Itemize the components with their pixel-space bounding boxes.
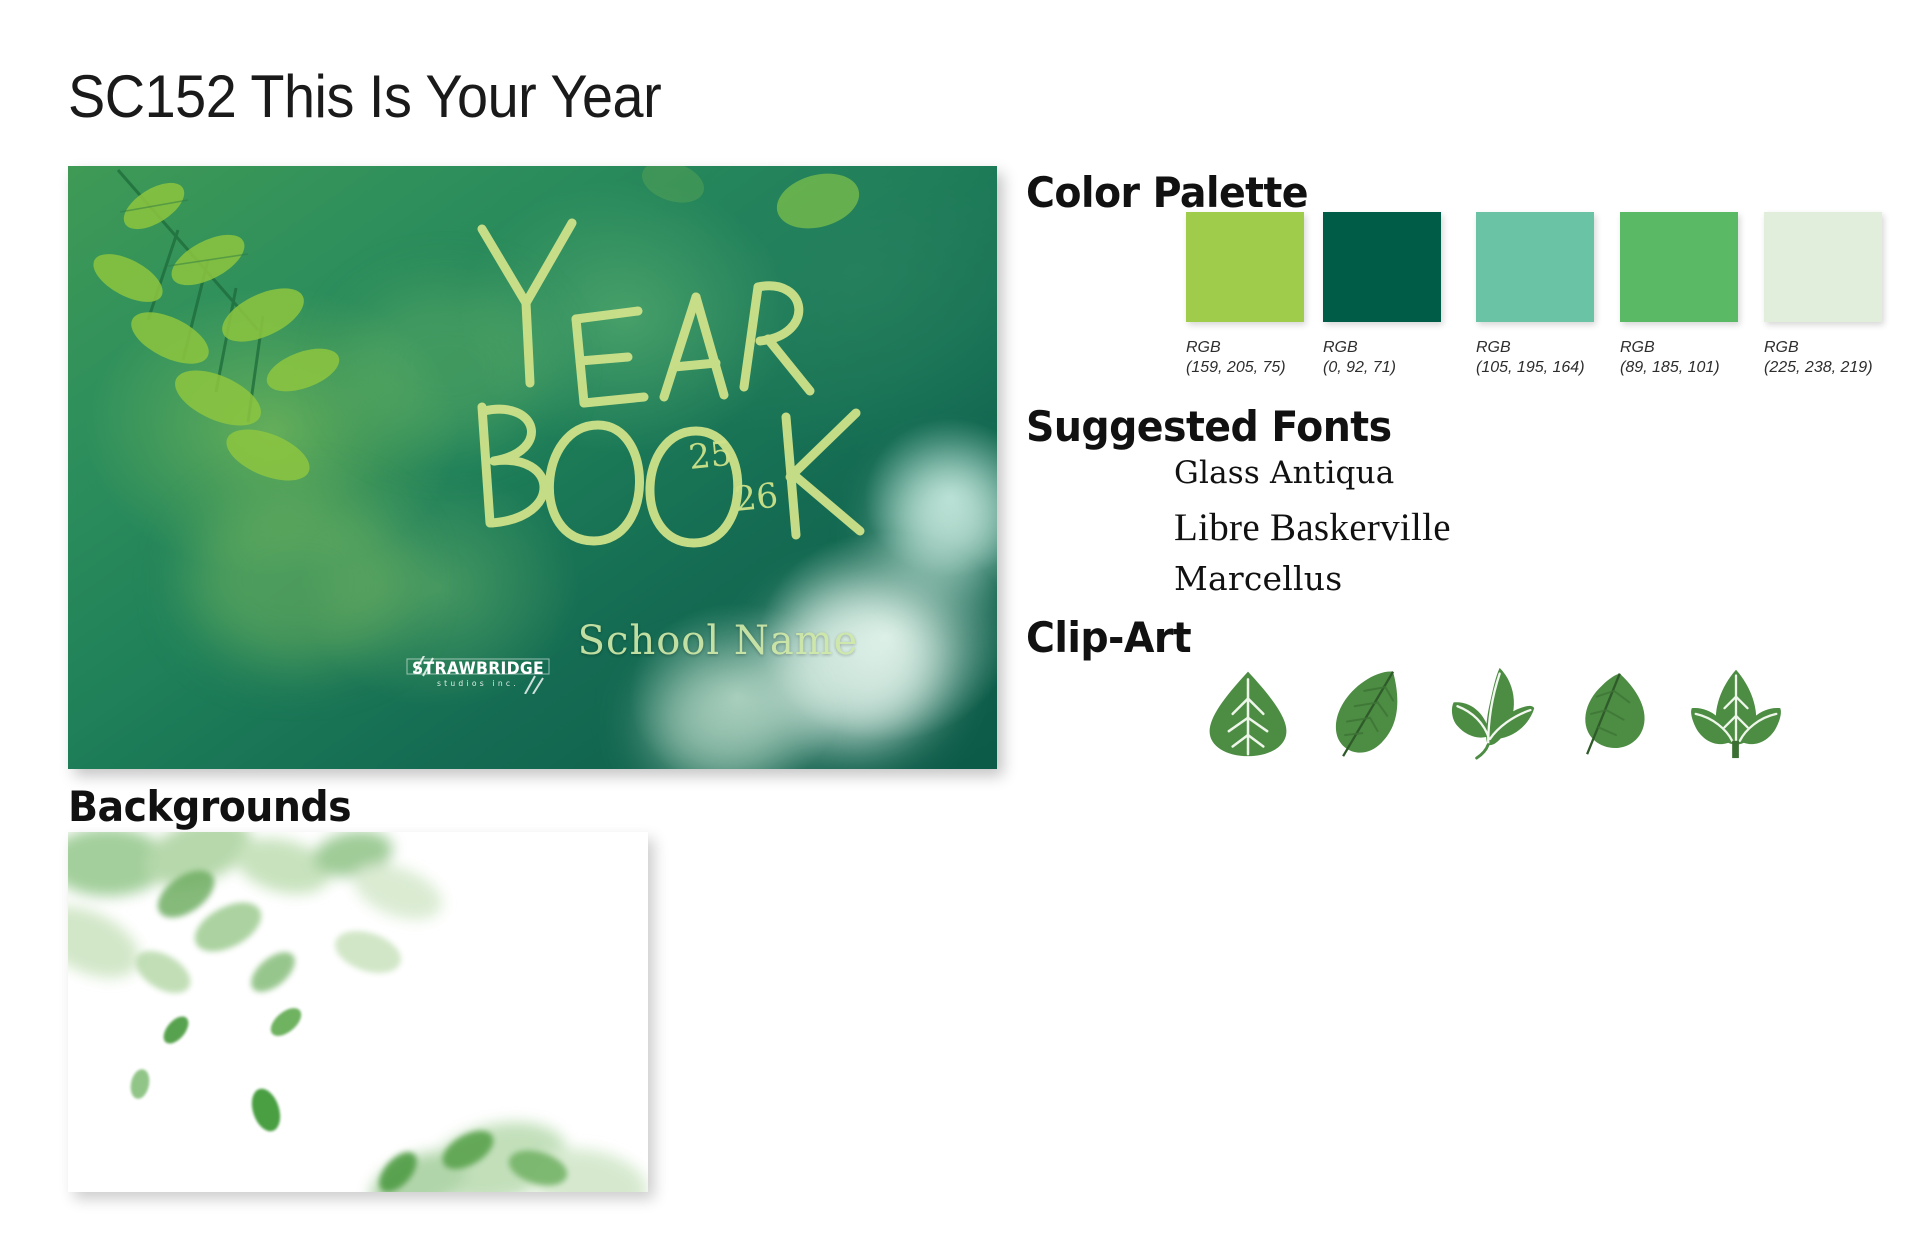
swatch-item[interactable]: RGB (89, 185, 101) xyxy=(1620,212,1738,379)
rgb-title: RGB xyxy=(1620,339,1655,356)
suggested-fonts-list: Glass Antiqua Libre Baskerville Marcellu… xyxy=(1174,455,1451,598)
background-preview[interactable] xyxy=(68,832,648,1192)
leaf-teardrop-icon[interactable] xyxy=(1200,664,1296,760)
font-sample-marcellus: Marcellus xyxy=(1174,559,1451,598)
swatch-item[interactable]: RGB (225, 238, 219) xyxy=(1764,212,1882,379)
rgb-value: (105, 195, 164) xyxy=(1476,358,1594,378)
leaf-trio-icon[interactable] xyxy=(1688,664,1784,760)
color-swatch[interactable] xyxy=(1476,212,1594,322)
rgb-value: (0, 92, 71) xyxy=(1323,358,1441,378)
svg-text:26: 26 xyxy=(733,476,780,520)
swatch-item[interactable]: RGB (0, 92, 71) xyxy=(1323,212,1441,379)
suggested-fonts-heading: Suggested Fonts xyxy=(1026,402,1392,451)
clip-art-heading: Clip-Art xyxy=(1026,613,1191,662)
swatch-item[interactable]: RGB (159, 205, 75) xyxy=(1186,212,1304,379)
swatch-rgb-label: RGB (159, 205, 75) xyxy=(1186,338,1304,379)
logo-wordmark: STRAWBRIDGE xyxy=(405,659,550,679)
color-swatch[interactable] xyxy=(1764,212,1882,322)
rgb-title: RGB xyxy=(1323,339,1358,356)
rgb-title: RGB xyxy=(1186,339,1221,356)
rgb-title: RGB xyxy=(1764,339,1799,356)
swatch-rgb-label: RGB (0, 92, 71) xyxy=(1323,338,1441,379)
color-swatch[interactable] xyxy=(1620,212,1738,322)
svg-text:25: 25 xyxy=(687,434,734,478)
swatch-item[interactable]: RGB (105, 195, 164) xyxy=(1476,212,1594,379)
font-sample-libre-baskerville: Libre Baskerville xyxy=(1174,505,1451,550)
leaf-branch-decoration xyxy=(68,166,528,580)
leaf-pointed-icon[interactable] xyxy=(1322,664,1418,760)
style-guide-page: SC152 This Is Your Year xyxy=(0,0,1920,1253)
school-name-placeholder: School Name xyxy=(508,618,928,664)
yearbook-lettering: 25 26 xyxy=(468,211,948,571)
strawbridge-logo: STRAWBRIDGE studios inc. xyxy=(399,656,557,694)
color-swatch[interactable] xyxy=(1186,212,1304,322)
logo-tagline: studios inc. xyxy=(403,679,553,688)
rgb-value: (159, 205, 75) xyxy=(1186,358,1304,378)
leaf-simple-icon[interactable] xyxy=(1566,664,1662,760)
backgrounds-heading: Backgrounds xyxy=(68,782,351,831)
color-palette-heading: Color Palette xyxy=(1026,168,1308,217)
background-leaves-art xyxy=(68,832,648,1192)
font-sample-glass-antiqua: Glass Antiqua xyxy=(1174,455,1451,491)
page-title: SC152 This Is Your Year xyxy=(68,62,661,131)
leaf-sprig-icon[interactable] xyxy=(1444,664,1540,760)
cover-preview[interactable]: 25 26 School Name STRAWBRIDGE studios in… xyxy=(68,166,997,769)
rgb-value: (89, 185, 101) xyxy=(1620,358,1738,378)
swatch-rgb-label: RGB (225, 238, 219) xyxy=(1764,338,1882,379)
rgb-title: RGB xyxy=(1476,339,1511,356)
color-swatch[interactable] xyxy=(1323,212,1441,322)
swatch-rgb-label: RGB (89, 185, 101) xyxy=(1620,338,1738,379)
rgb-value: (225, 238, 219) xyxy=(1764,358,1882,378)
swatch-rgb-label: RGB (105, 195, 164) xyxy=(1476,338,1594,379)
